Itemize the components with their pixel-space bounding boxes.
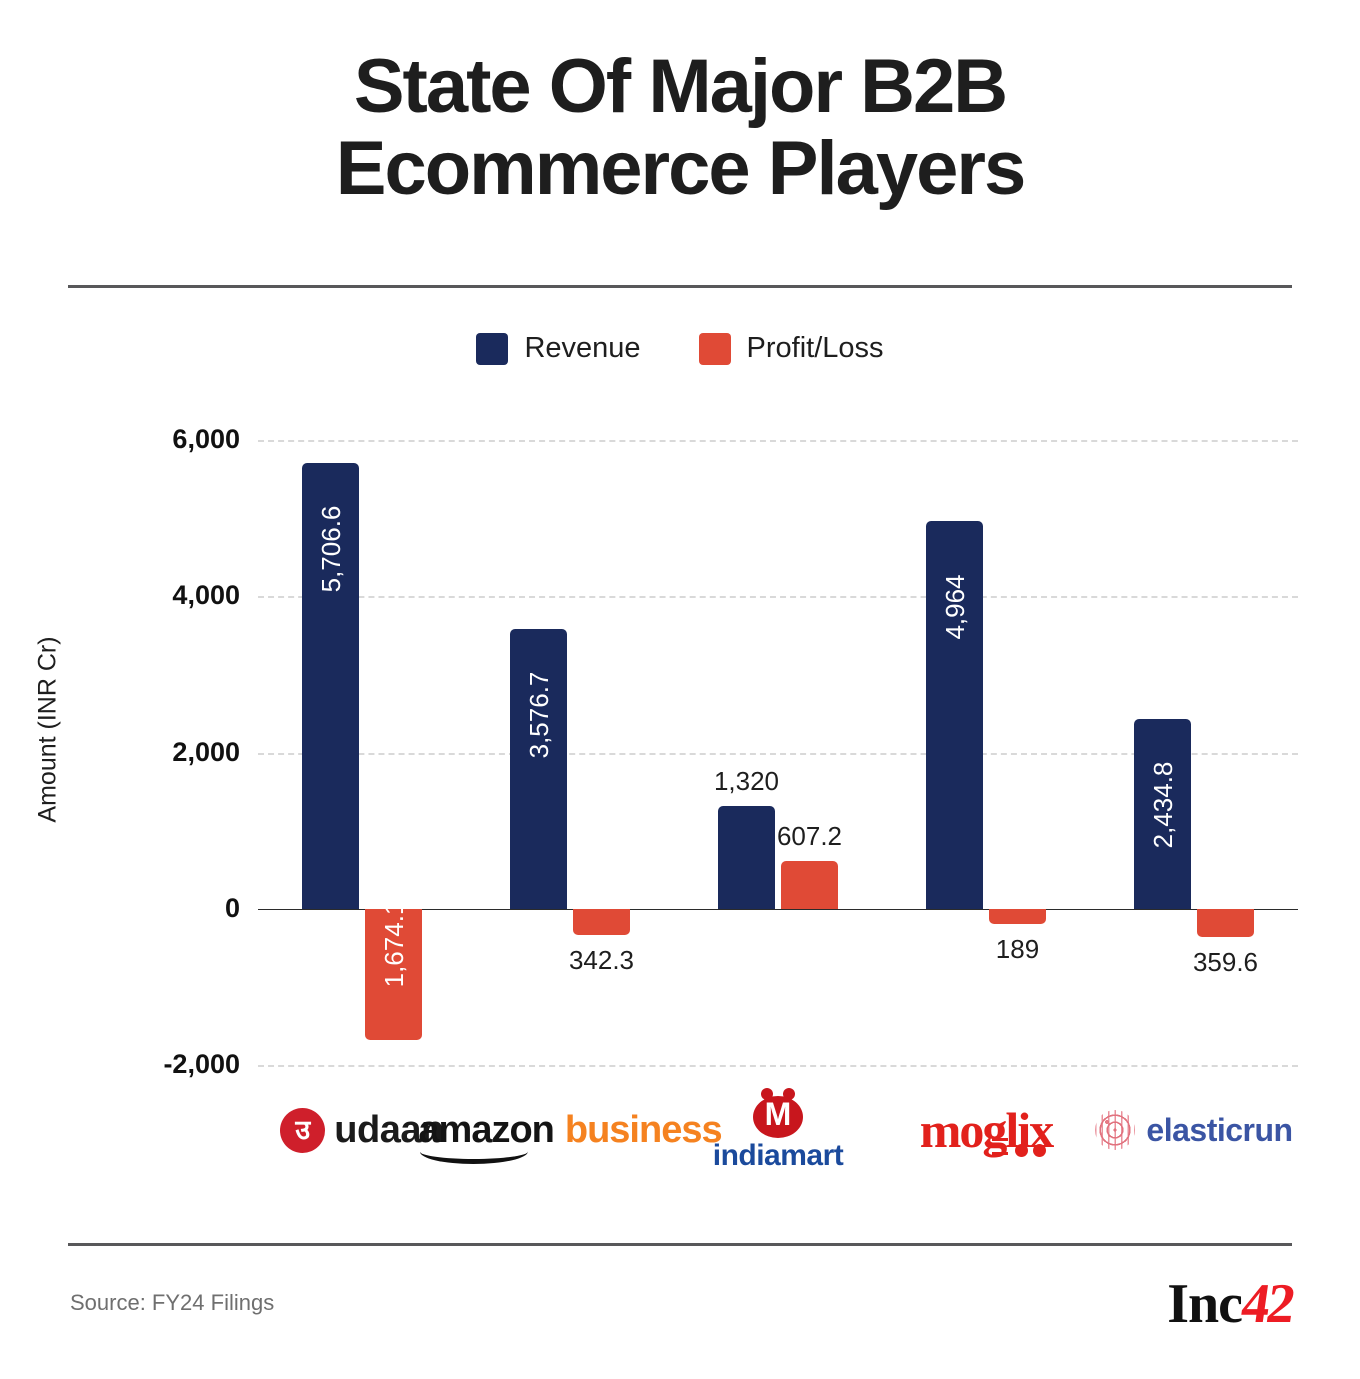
logo-elasticrun: elasticrun	[1090, 1085, 1298, 1175]
bar-value-label: 3,576.7	[524, 615, 554, 815]
divider-bottom	[68, 1243, 1292, 1246]
legend-item-revenue: Revenue	[476, 332, 640, 365]
company-logo-row: उ udaan amazon business M indiamart	[258, 1085, 1303, 1175]
bar-value-label: 359.6	[1136, 947, 1316, 978]
bar-value-label: 189	[928, 934, 1108, 965]
plot-area: 6,0004,0002,0000-2,0005,706.61,674.13,57…	[258, 440, 1298, 1065]
source-note: Source: FY24 Filings	[70, 1290, 274, 1316]
bar-profit-loss[interactable]	[1197, 909, 1254, 937]
indiamart-wordmark: indiamart	[713, 1139, 844, 1173]
logo-moglix: moglix	[882, 1085, 1090, 1175]
elasticrun-wordmark: elasticrun	[1146, 1112, 1292, 1149]
y-axis-tick-label: 6,000	[172, 424, 240, 455]
gridline	[258, 1065, 1298, 1067]
bar-chart: Amount (INR Cr) 6,0004,0002,0000-2,0005,…	[0, 415, 1360, 1085]
indiamart-mark-icon: M	[749, 1088, 807, 1138]
bar-value-label: 342.3	[512, 945, 692, 976]
moglix-dots-icon	[1015, 1144, 1046, 1157]
chart-legend: Revenue Profit/Loss	[0, 332, 1360, 365]
y-axis-tick-label: 4,000	[172, 580, 240, 611]
elasticrun-sphere-icon	[1095, 1110, 1135, 1150]
legend-label-profit-loss: Profit/Loss	[747, 332, 884, 365]
bar-value-label: 4,964	[940, 507, 970, 707]
y-axis-tick-label: -2,000	[163, 1049, 240, 1080]
bar-value-label: 1,674.1	[379, 844, 409, 1044]
page-title: State Of Major B2B Ecommerce Players	[0, 46, 1360, 210]
infographic-page: State Of Major B2B Ecommerce Players Rev…	[0, 0, 1360, 1379]
bar-value-label: 2,434.8	[1148, 705, 1178, 905]
legend-swatch-revenue	[476, 333, 508, 365]
indiamart-letter: M	[749, 1098, 807, 1130]
y-axis-tick-label: 2,000	[172, 736, 240, 767]
y-axis-title: Amount (INR Cr)	[34, 470, 63, 990]
bar-group: 3,576.7342.3	[466, 440, 674, 1065]
legend-swatch-profit-loss	[699, 333, 731, 365]
bar-value-label: 607.2	[720, 821, 900, 852]
bar-profit-loss[interactable]	[989, 909, 1046, 924]
divider-top	[68, 285, 1292, 288]
bar-group: 5,706.61,674.1	[258, 440, 466, 1065]
udaan-mark-icon: उ	[280, 1108, 325, 1153]
bar-group: 2,434.8359.6	[1090, 440, 1298, 1065]
bar-value-label: 1,320	[657, 766, 837, 797]
logo-indiamart: M indiamart	[674, 1085, 882, 1175]
inc42-logo: Inc 42	[1167, 1272, 1292, 1336]
bar-profit-loss[interactable]	[781, 861, 838, 908]
bar-group: 1,320607.2	[674, 440, 882, 1065]
logo-amazon-business: amazon business	[466, 1085, 674, 1175]
legend-item-profit-loss: Profit/Loss	[699, 332, 884, 365]
y-axis-tick-label: 0	[225, 893, 240, 924]
inc42-42-text: 42	[1238, 1272, 1297, 1336]
amazon-smile-icon	[420, 1139, 529, 1164]
bar-value-label: 5,706.6	[316, 449, 346, 649]
moglix-equals-icon	[992, 1138, 1008, 1155]
page-title-text: State Of Major B2B Ecommerce Players	[0, 46, 1360, 210]
inc42-inc-text: Inc	[1167, 1272, 1242, 1336]
bar-profit-loss[interactable]	[573, 909, 630, 936]
legend-label-revenue: Revenue	[524, 332, 640, 365]
bar-group: 4,964189	[882, 440, 1090, 1065]
